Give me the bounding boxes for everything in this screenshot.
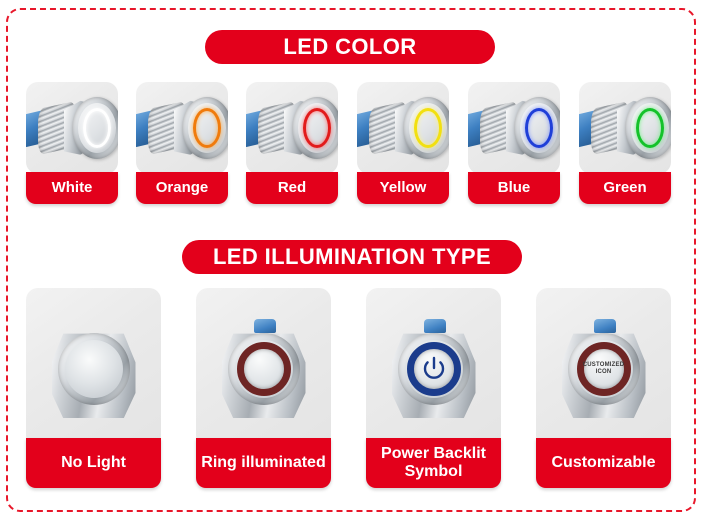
card-label-text: White [52, 180, 93, 197]
button-bezel [72, 97, 118, 159]
blue-housing [594, 319, 616, 333]
product-photo [366, 288, 501, 448]
card-label-text: Green [603, 180, 646, 197]
led-button-angled-view [136, 95, 228, 161]
led-button-angled-view [246, 95, 338, 161]
blue-housing [424, 319, 446, 333]
button-face [409, 103, 447, 153]
button-face [405, 340, 463, 398]
button-bezel [625, 97, 671, 159]
card-label-text: Blue [498, 180, 531, 197]
illumination-card-power-backlit-symbol[interactable]: Power Backlit Symbol [366, 288, 501, 488]
led-ring-icon [237, 342, 291, 396]
product-photo [196, 288, 331, 448]
product-photo [26, 288, 161, 448]
blue-housing [254, 319, 276, 333]
led-button-angled-view [26, 95, 118, 161]
led-button-angled-view [357, 95, 449, 161]
illumination-card-ring-illuminated[interactable]: Ring illuminated [196, 288, 331, 488]
section-header-led-color: LED COLOR [205, 30, 495, 64]
button-bezel [292, 97, 338, 159]
infographic-page: LED COLOR White [0, 0, 704, 522]
led-color-card-blue[interactable]: Blue [468, 82, 560, 204]
button-face [631, 103, 669, 153]
led-color-card-yellow[interactable]: Yellow [357, 82, 449, 204]
product-photo: CUSTOMIZEDICON [536, 288, 671, 448]
led-ring-icon [83, 108, 111, 148]
led-button-angled-view [468, 95, 560, 161]
button-face [78, 103, 116, 153]
product-photo [136, 82, 228, 174]
button-face [188, 103, 226, 153]
card-label-text: Orange [156, 180, 209, 197]
led-ring-icon [414, 108, 442, 148]
illumination-card-no-light[interactable]: No Light [26, 288, 161, 488]
button-bezel [182, 97, 228, 159]
led-button-front-view [216, 319, 312, 423]
card-label-text: Customizable [551, 454, 655, 472]
button-face: CUSTOMIZEDICON [575, 340, 633, 398]
card-label: Blue [468, 172, 560, 204]
illumination-card-customizable[interactable]: CUSTOMIZEDICON Customizable [536, 288, 671, 488]
card-label: Green [579, 172, 671, 204]
button-face [235, 340, 293, 398]
customized-icon-text: CUSTOMIZEDICON [583, 362, 625, 377]
led-button-front-view: CUSTOMIZEDICON [556, 319, 652, 423]
button-bezel [58, 333, 130, 405]
card-label: Yellow [357, 172, 449, 204]
button-bezel [228, 333, 300, 405]
button-face [65, 340, 123, 398]
button-face [298, 103, 336, 153]
card-label: Ring illuminated [196, 438, 331, 488]
section-title-text: LED COLOR [283, 34, 416, 60]
led-color-card-red[interactable]: Red [246, 82, 338, 204]
product-photo [579, 82, 671, 174]
card-label: Orange [136, 172, 228, 204]
led-button-front-view [386, 319, 482, 423]
card-label: Customizable [536, 438, 671, 488]
card-label-text: Yellow [380, 180, 427, 197]
led-ring-icon [636, 108, 664, 148]
led-ring-icon [525, 108, 553, 148]
product-photo [246, 82, 338, 174]
button-bezel [514, 97, 560, 159]
card-label: Red [246, 172, 338, 204]
card-label-text: Red [278, 180, 306, 197]
led-color-card-orange[interactable]: Orange [136, 82, 228, 204]
led-ring-icon [193, 108, 221, 148]
button-bezel [398, 333, 470, 405]
button-bezel: CUSTOMIZEDICON [568, 333, 640, 405]
led-color-card-white[interactable]: White [26, 82, 118, 204]
section-header-led-illumination-type: LED ILLUMINATION TYPE [182, 240, 522, 274]
card-label-text: Power Backlit Symbol [366, 445, 501, 481]
card-label: White [26, 172, 118, 204]
led-ring-icon [67, 342, 121, 396]
button-face [520, 103, 558, 153]
card-label: No Light [26, 438, 161, 488]
product-photo [357, 82, 449, 174]
button-bezel [403, 97, 449, 159]
card-label-text: Ring illuminated [201, 454, 325, 472]
led-ring-icon [303, 108, 331, 148]
power-symbol-icon [419, 354, 449, 384]
section-title-text: LED ILLUMINATION TYPE [213, 244, 491, 270]
led-color-card-green[interactable]: Green [579, 82, 671, 204]
card-label-text: No Light [61, 454, 126, 472]
led-button-angled-view [579, 95, 671, 161]
product-photo [468, 82, 560, 174]
card-label: Power Backlit Symbol [366, 438, 501, 488]
product-photo [26, 82, 118, 174]
led-button-front-view [46, 319, 142, 423]
